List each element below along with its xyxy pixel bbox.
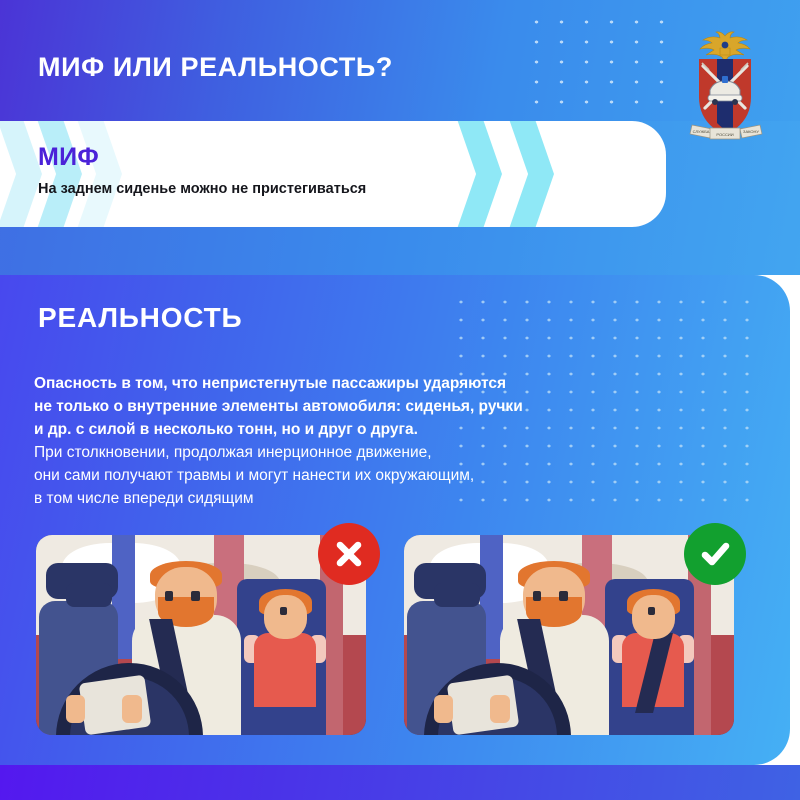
myth-statement: На заднем сиденье можно не пристегиватьс… <box>38 181 366 197</box>
reality-line: При столкновении, продолжая инерционное … <box>34 441 734 464</box>
myth-band: МИФ На заднем сиденье можно не пристегив… <box>0 121 800 275</box>
gibdd-emblem-icon: СЛУЖБА РОССИИ ЗАКОНУ <box>684 26 766 148</box>
svg-text:ЗАКОНУ: ЗАКОНУ <box>743 129 759 134</box>
reality-line: не только о внутренние элементы автомоби… <box>34 395 734 418</box>
cross-badge-icon <box>318 523 380 585</box>
reality-line: Опасность в том, что непристегнутые пасс… <box>34 372 734 395</box>
svg-text:РОССИИ: РОССИИ <box>716 132 733 137</box>
reality-line: они сами получают травмы и могут нанести… <box>34 464 734 487</box>
myth-label: МИФ <box>38 143 99 172</box>
reality-body: Опасность в том, что непристегнутые пасс… <box>34 372 734 510</box>
dot-grid-pattern-icon <box>524 12 669 112</box>
illustration-belted <box>404 535 734 735</box>
chevron-right-icon <box>500 121 554 227</box>
svg-text:СЛУЖБА: СЛУЖБА <box>693 129 710 134</box>
illustration-unbelted <box>36 535 366 735</box>
poster-root: МИФ ИЛИ РЕАЛЬНОСТЬ? <box>0 0 800 800</box>
illustration-row <box>0 535 800 750</box>
check-badge-icon <box>684 523 746 585</box>
reality-line: в том числе впереди сидящим <box>34 487 734 510</box>
myth-card: МИФ На заднем сиденье можно не пристегив… <box>0 121 666 227</box>
reality-title: РЕАЛЬНОСТЬ <box>38 302 242 334</box>
reality-line: и др. с силой в несколько тонн, но и дру… <box>34 418 734 441</box>
chevron-right-icon <box>0 121 42 227</box>
footer-band <box>0 765 800 800</box>
header-band: МИФ ИЛИ РЕАЛЬНОСТЬ? <box>0 0 800 121</box>
page-title: МИФ ИЛИ РЕАЛЬНОСТЬ? <box>38 52 393 83</box>
chevron-right-icon <box>448 121 502 227</box>
